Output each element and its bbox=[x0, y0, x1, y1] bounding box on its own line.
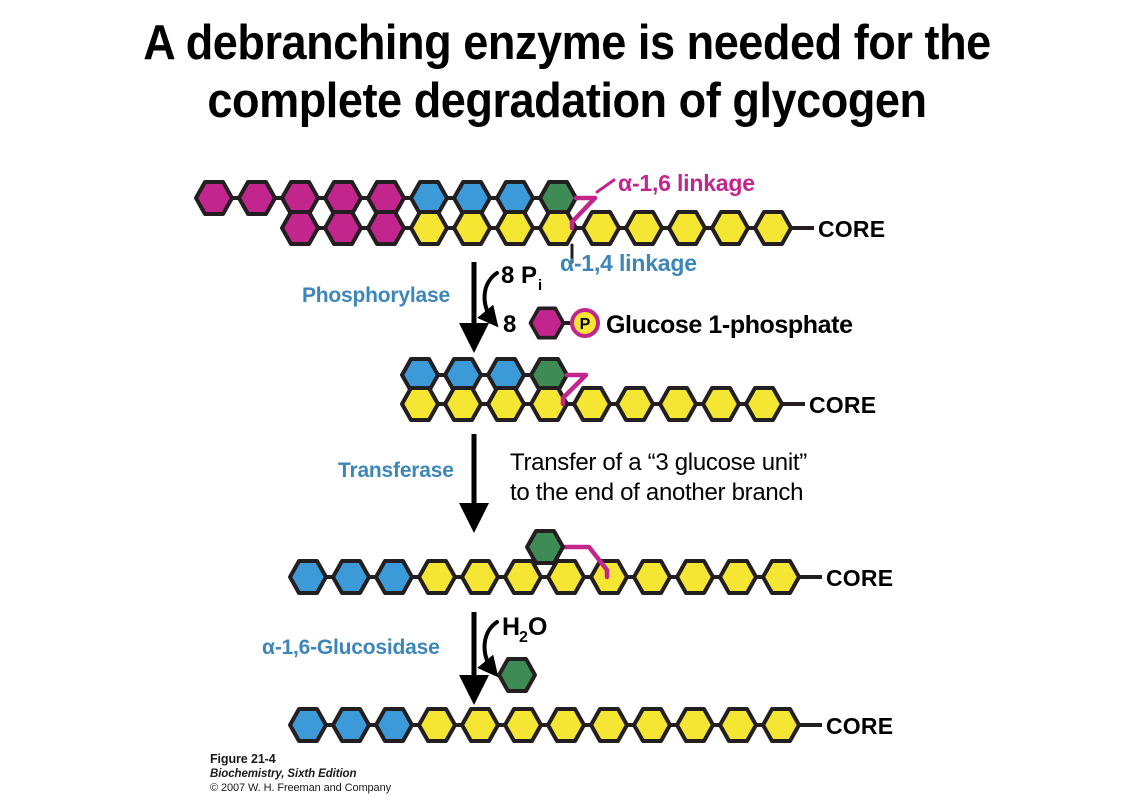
glucose-hexagon-yellow bbox=[669, 212, 705, 244]
glucose-hexagon-yellow bbox=[677, 561, 713, 593]
glucose-hexagon-yellow bbox=[763, 709, 799, 741]
glucose-hexagon-yellow bbox=[454, 212, 490, 244]
glucose-hexagon-yellow bbox=[505, 709, 541, 741]
glucose-hexagon-blue bbox=[290, 709, 326, 741]
glucose-hexagon-yellow bbox=[634, 709, 670, 741]
copyright-notice: © 2007 W. H. Freeman and Company bbox=[210, 781, 640, 795]
glucose-hexagon-magenta bbox=[325, 212, 361, 244]
glucose-hexagon-magenta bbox=[368, 182, 404, 214]
released-glucose-hexagon bbox=[499, 659, 535, 691]
glucose-hexagon-yellow bbox=[548, 561, 584, 593]
glucose-hexagon-yellow bbox=[755, 212, 791, 244]
glucose-hexagon-blue bbox=[376, 561, 412, 593]
glucose-hexagon-yellow bbox=[497, 212, 533, 244]
glucose-hexagon-magenta bbox=[282, 212, 318, 244]
phosphorylase-label: Phosphorylase bbox=[302, 284, 450, 307]
stage-3-after-transferase: CORE bbox=[290, 531, 893, 593]
glucose-hexagon-yellow bbox=[626, 212, 662, 244]
glucose-hexagon-blue bbox=[333, 561, 369, 593]
core-label: CORE bbox=[826, 713, 893, 739]
pi-in-subscript: i bbox=[538, 277, 542, 294]
glucose-hexagon-yellow bbox=[703, 388, 739, 420]
glucose-hexagon-magenta bbox=[196, 182, 232, 214]
glucose-hexagon-yellow bbox=[445, 388, 481, 420]
stage-4-final-chain: CORE bbox=[290, 709, 893, 741]
alpha-1-4-linkage-label: α-1,4 linkage bbox=[560, 250, 697, 276]
transfer-note-line-2: to the end of another branch bbox=[510, 479, 803, 506]
figure-credit: Figure 21-4 Biochemistry, Sixth Edition … bbox=[210, 752, 640, 795]
glucose-hexagon-yellow bbox=[634, 561, 670, 593]
glucose-hexagon-yellow bbox=[419, 709, 455, 741]
glucose-hexagon-yellow bbox=[488, 388, 524, 420]
glucose-hexagon-yellow bbox=[591, 709, 627, 741]
glucose-hexagon-blue bbox=[454, 182, 490, 214]
glucose-hexagon-yellow bbox=[712, 212, 748, 244]
water-label: H bbox=[502, 613, 520, 641]
glucose-hexagon-yellow bbox=[660, 388, 696, 420]
glucose-hexagon-magenta bbox=[325, 182, 361, 214]
phosphorylase-curved-arrow bbox=[485, 273, 497, 322]
glucose-hexagon-yellow bbox=[402, 388, 438, 420]
transferase-label: Transferase bbox=[338, 459, 454, 482]
glucose-hexagon-blue bbox=[333, 709, 369, 741]
alpha-1-6-linkage-label: α-1,6 linkage bbox=[618, 170, 755, 196]
core-label: CORE bbox=[818, 216, 885, 242]
alpha-1-6-leader-line bbox=[597, 180, 614, 192]
glucose-hexagon-yellow bbox=[574, 388, 610, 420]
core-label: CORE bbox=[809, 392, 876, 418]
glucose-hexagon-yellow bbox=[720, 709, 756, 741]
transfer-note-line-1: Transfer of a “3 glucose unit” bbox=[510, 449, 807, 476]
stage-3-branch-residue bbox=[527, 531, 563, 563]
glucose-1-phosphate-label: Glucose 1-phosphate bbox=[606, 311, 853, 339]
water-label-tail: O bbox=[528, 613, 547, 641]
stage-1-branched-glycogen: CORE α-1,6 linkage α-1,4 linkage bbox=[196, 170, 885, 276]
g1p-glucose-hexagon bbox=[530, 308, 563, 337]
phosphate-letter: P bbox=[580, 316, 591, 333]
glucose-hexagon-magenta bbox=[282, 182, 318, 214]
glucose-hexagon-magenta bbox=[368, 212, 404, 244]
core-label: CORE bbox=[826, 565, 893, 591]
figure-diagram: CORE α-1,6 linkage α-1,4 linkage Phospho… bbox=[0, 0, 1134, 800]
glucose-hexagon-yellow bbox=[462, 561, 498, 593]
reaction-glucosidase: α-1,6-Glucosidase H 2 O bbox=[262, 612, 547, 691]
figure-number: Figure 21-4 bbox=[210, 752, 640, 767]
glucose-hexagon-green-branchpoint bbox=[540, 182, 576, 214]
glucose-hexagon-yellow bbox=[677, 709, 713, 741]
glucose-hexagon-blue bbox=[411, 182, 447, 214]
g1p-count-label: 8 bbox=[503, 311, 516, 338]
glucosidase-label: α-1,6-Glucosidase bbox=[262, 636, 440, 659]
glucose-hexagon-yellow bbox=[746, 388, 782, 420]
glucose-hexagon-yellow bbox=[462, 709, 498, 741]
glucose-hexagon-yellow bbox=[548, 709, 584, 741]
glucose-hexagon-yellow bbox=[763, 561, 799, 593]
stage-1-branch-residues bbox=[196, 182, 576, 214]
glucosidase-curved-arrow bbox=[485, 622, 497, 672]
reaction-transferase: Transferase Transfer of a “3 glucose uni… bbox=[338, 434, 807, 518]
pi-in-label: 8 P bbox=[501, 262, 537, 289]
glucose-hexagon-blue bbox=[376, 709, 412, 741]
glucose-hexagon-yellow bbox=[505, 561, 541, 593]
stage-2-main-residues bbox=[402, 388, 782, 420]
water-subscript: 2 bbox=[519, 629, 528, 646]
glucose-hexagon-yellow bbox=[419, 561, 455, 593]
book-title: Biochemistry, Sixth Edition bbox=[210, 767, 640, 781]
glucose-hexagon-magenta bbox=[239, 182, 275, 214]
glucose-hexagon-blue bbox=[290, 561, 326, 593]
glucose-hexagon-green-branchpoint bbox=[527, 531, 563, 563]
stage-2-after-phosphorylase: CORE bbox=[402, 359, 876, 420]
glucose-hexagon-yellow bbox=[583, 212, 619, 244]
glucose-hexagon-yellow bbox=[720, 561, 756, 593]
glucose-hexagon-yellow bbox=[411, 212, 447, 244]
glucose-hexagon-yellow bbox=[617, 388, 653, 420]
glucose-hexagon-blue bbox=[497, 182, 533, 214]
